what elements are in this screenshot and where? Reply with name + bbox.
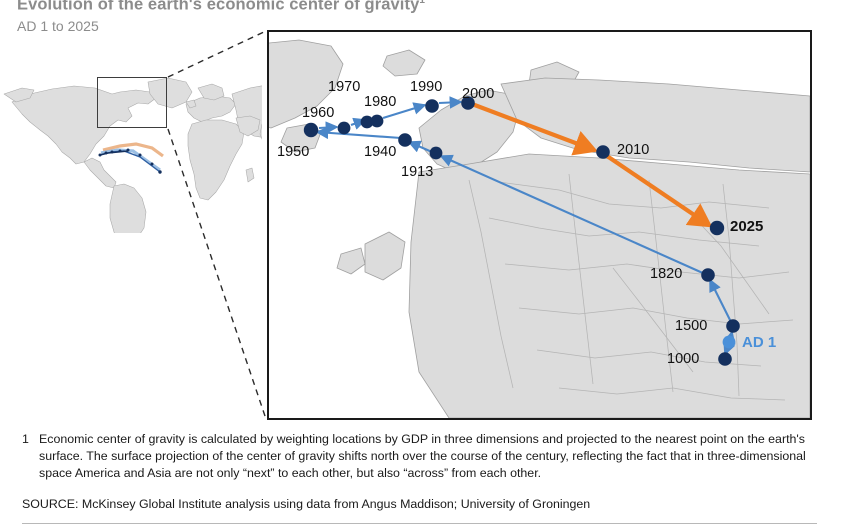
marker-1940 <box>398 133 412 147</box>
footnote-block: 1 Economic center of gravity is calculat… <box>22 431 822 482</box>
landmass-africa <box>188 120 244 200</box>
marker-1500 <box>726 319 740 333</box>
page-title: Evolution of the earth's economic center… <box>17 0 425 15</box>
year-label-2025: 2025 <box>730 219 763 234</box>
mini-trajectory <box>99 144 164 174</box>
footnote-number: 1 <box>22 431 29 448</box>
year-label-1000: 1000 <box>667 352 699 367</box>
landmass-south-america <box>110 184 146 233</box>
bottom-divider <box>22 523 817 524</box>
detail-map-panel: 1950 1960 1970 1980 1990 2000 1940 1913 … <box>267 30 812 420</box>
marker-1820 <box>701 268 715 282</box>
marker-1990 <box>425 99 439 113</box>
year-label-1990: 1990 <box>410 80 442 95</box>
year-label-1500: 1500 <box>675 319 707 334</box>
year-label-2000: 2000 <box>462 87 494 102</box>
arrow-1950-to-1960 <box>319 127 337 128</box>
year-label-1820: 1820 <box>650 267 682 282</box>
page-title-text: Evolution of the earth's economic center… <box>17 0 419 14</box>
year-label-1950: 1950 <box>277 145 309 160</box>
marker-1980 <box>371 115 384 128</box>
landmass-central-america <box>84 158 116 188</box>
right-edge-divider <box>843 0 844 532</box>
arrow-1990-to-2000 <box>439 102 461 103</box>
slide-canvas: Evolution of the earth's economic center… <box>0 0 850 532</box>
marker-ad-1 <box>723 336 736 349</box>
year-label-1940: 1940 <box>364 145 396 160</box>
footnote-text: Economic center of gravity is calculated… <box>39 431 822 482</box>
marker-1913 <box>430 147 443 160</box>
page-subtitle: AD 1 to 2025 <box>17 18 99 34</box>
marker-1960 <box>338 122 351 135</box>
year-label-1970: 1970 <box>328 80 360 95</box>
source-line: SOURCE: McKinsey Global Institute analys… <box>22 497 590 511</box>
year-label-1960: 1960 <box>302 106 334 121</box>
year-label-ad-1: AD 1 <box>742 335 776 350</box>
landmass-madagascar <box>246 168 254 182</box>
title-footnote-marker: 1 <box>419 0 425 6</box>
year-label-1913: 1913 <box>401 165 433 180</box>
landmass-eurasia-main <box>409 154 810 418</box>
marker-1950 <box>304 123 318 137</box>
marker-2010 <box>596 145 610 159</box>
inset-zoom-rectangle <box>97 77 167 128</box>
year-label-2010: 2010 <box>617 143 649 158</box>
marker-2025 <box>710 221 724 235</box>
year-label-1980: 1980 <box>364 95 396 110</box>
marker-1000 <box>718 352 732 366</box>
